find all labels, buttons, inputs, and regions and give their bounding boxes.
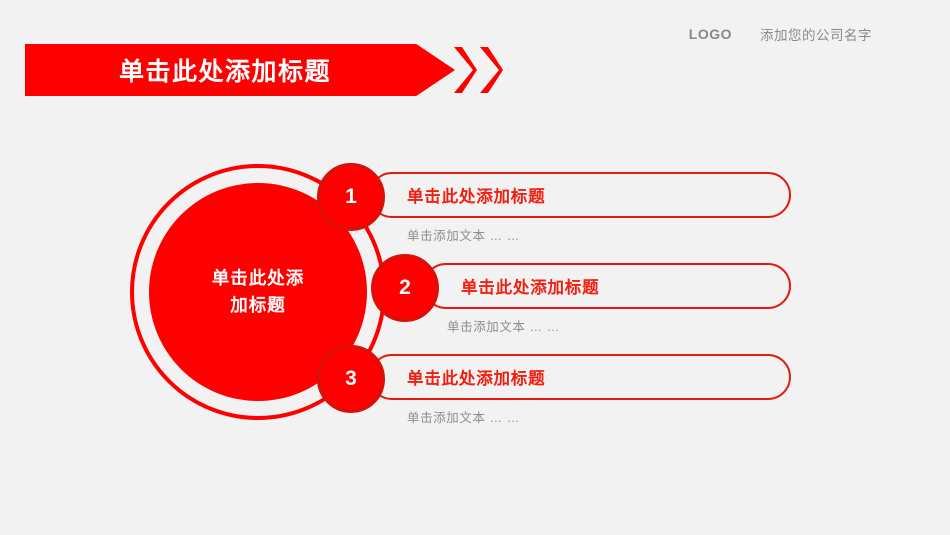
row-number-badge[interactable]: 3 xyxy=(317,345,385,413)
chevron-right-icon xyxy=(478,46,504,94)
central-circle-title-line-2: 加标题 xyxy=(230,295,286,315)
logo-placeholder: LOGO xyxy=(689,26,732,42)
row-number-badge[interactable]: 2 xyxy=(371,254,439,322)
row-number-badge[interactable]: 1 xyxy=(317,163,385,231)
central-circle-title: 单击此处添 加标题 xyxy=(212,265,305,319)
header-bar: LOGO 添加您的公司名字 xyxy=(689,24,872,44)
list-item[interactable]: 1 单击此处添加标题 单击添加文本 … … xyxy=(317,163,817,263)
row-title: 单击此处添加标题 xyxy=(407,365,545,389)
chevron-right-icon xyxy=(452,46,478,94)
list-item[interactable]: 2 单击此处添加标题 单击添加文本 … … xyxy=(371,254,821,354)
central-circle-title-line-1: 单击此处添 xyxy=(212,268,305,288)
title-banner: 单击此处添加标题 xyxy=(0,44,520,96)
row-title: 单击此处添加标题 xyxy=(461,274,599,298)
row-subtitle: 单击添加文本 … … xyxy=(407,225,520,244)
company-name-placeholder: 添加您的公司名字 xyxy=(760,24,872,44)
list-item[interactable]: 3 单击此处添加标题 单击添加文本 … … xyxy=(317,345,817,445)
row-subtitle: 单击添加文本 … … xyxy=(447,316,560,335)
slide-title: 单击此处添加标题 xyxy=(25,44,425,96)
row-title: 单击此处添加标题 xyxy=(407,183,545,207)
row-subtitle: 单击添加文本 … … xyxy=(407,407,520,426)
